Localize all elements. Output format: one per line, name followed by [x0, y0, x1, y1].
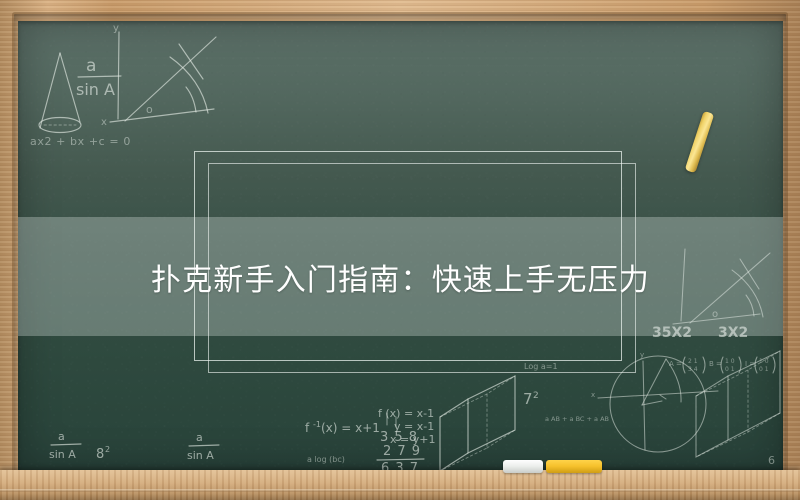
cone-drawing	[39, 53, 81, 133]
white-chalk-stick-tray	[503, 460, 543, 473]
svg-text:1 0: 1 0	[725, 358, 735, 365]
chalk-text: f (x) = x-1	[378, 407, 434, 420]
sine-rule-left: a sin A	[76, 56, 121, 99]
eight-squared: 8 2	[96, 445, 110, 462]
chalk-text: o	[146, 103, 153, 116]
matrix-row: A = 2 1 3 4 B = 1 0 0 1 I = 1 0 0 1	[669, 357, 775, 373]
angle-diagram-left: y x o	[101, 23, 216, 128]
chalk-text: sin A	[76, 80, 115, 99]
chalk-text-quadratic: ax2 + bx +c = 0	[30, 135, 131, 148]
chalk-text-stray-digit: 6	[768, 454, 775, 467]
chalkboard-surface: a sin A y x o ax2 + bx +c = 0	[18, 21, 783, 472]
chalk-text-triangle-eq: a AB + a BC + a AB	[545, 415, 609, 423]
svg-text:3 4: 3 4	[688, 366, 698, 373]
sine-rule-bottom-left: a sin A	[49, 430, 81, 461]
chalk-text: 8	[96, 447, 104, 462]
ledge-lip	[0, 489, 800, 492]
chalk-text: a	[86, 56, 96, 76]
title-container: 扑克新手入门指南：快速上手无压力	[18, 217, 783, 336]
chalk-text: f	[305, 421, 310, 435]
chalk-text: 7	[523, 390, 533, 408]
inverse-function: f -1 (x) = x+1	[305, 420, 380, 435]
chalk-text: 2	[105, 445, 110, 454]
chalk-text: (x) = x+1	[321, 421, 380, 435]
chalk-text: B =	[709, 360, 722, 368]
chalk-text: a	[58, 430, 65, 443]
chalk-text: -1	[313, 420, 321, 429]
chalkboard-banner: a sin A y x o ax2 + bx +c = 0	[0, 0, 800, 500]
chalk-text: sin A	[187, 449, 214, 462]
sine-rule-bottom-center: a sin A	[187, 431, 219, 462]
chalk-ledge	[0, 470, 800, 500]
seven-squared: 7 2	[523, 390, 539, 408]
page-title: 扑克新手入门指南：快速上手无压力	[151, 255, 650, 299]
chalk-text: sin A	[49, 448, 76, 461]
chalk-text: a	[196, 431, 203, 444]
chalk-text: y	[113, 23, 119, 34]
chalk-text: 3 5 8	[380, 430, 418, 445]
cube-center	[440, 376, 515, 471]
svg-text:y: y	[640, 351, 644, 359]
svg-text:0 1: 0 1	[725, 366, 735, 373]
yellow-chalk-stick-tray	[546, 460, 602, 473]
chalk-text: x	[101, 117, 107, 128]
svg-text:x: x	[591, 391, 595, 399]
chalk-text-log-bc: a log (bc)	[307, 455, 345, 464]
chalk-text: 2 7 9	[383, 444, 421, 459]
chalk-text: 2	[533, 391, 539, 401]
svg-text:0 1: 0 1	[759, 366, 769, 373]
svg-text:2 1: 2 1	[688, 358, 698, 365]
